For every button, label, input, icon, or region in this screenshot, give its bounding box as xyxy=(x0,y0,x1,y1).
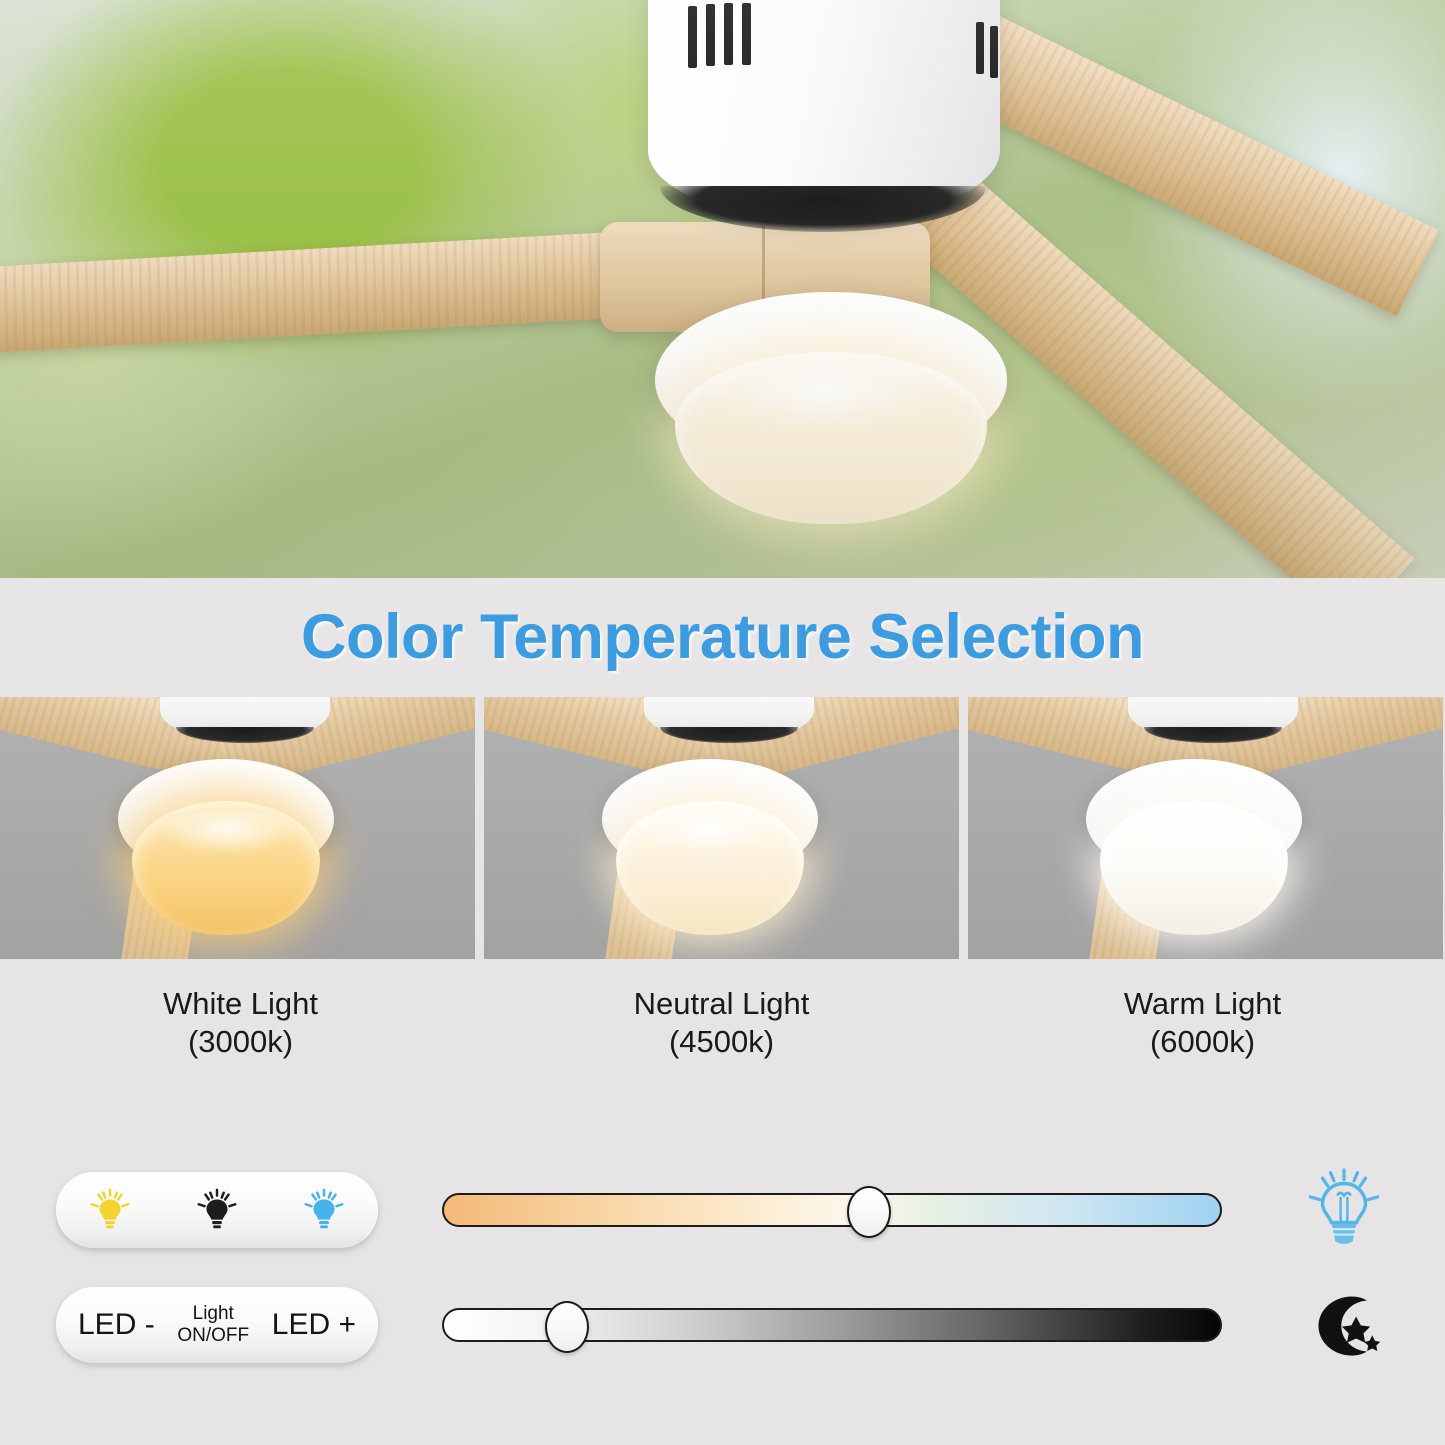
caption-name: Neutral Light xyxy=(481,985,962,1023)
title-band: Color Temperature Selection xyxy=(0,578,1445,695)
brightness-slider[interactable] xyxy=(442,1302,1222,1348)
moon-star-icon xyxy=(1301,1283,1387,1369)
bulb-icon-warm[interactable] xyxy=(87,1187,133,1233)
light-on-off-label[interactable]: Light ON/OFF xyxy=(177,1303,249,1347)
bulb-icon-cool[interactable] xyxy=(301,1187,347,1233)
light-on-off-line2: ON/OFF xyxy=(177,1325,249,1346)
panel-neutral-light xyxy=(484,697,959,959)
color-mode-button[interactable] xyxy=(56,1172,378,1248)
panel-white-light xyxy=(0,697,475,959)
light-on-off-line1: Light xyxy=(193,1303,234,1324)
caption-kelvin: (6000k) xyxy=(962,1023,1443,1061)
caption-name: White Light xyxy=(0,985,481,1023)
color-temperature-slider-thumb[interactable] xyxy=(847,1186,891,1238)
panel-light-fixture xyxy=(1086,759,1302,945)
controls-section: LED - Light ON/OFF LED + xyxy=(0,1160,1445,1410)
panel-light-fixture xyxy=(118,759,334,945)
brightness-slider-thumb[interactable] xyxy=(545,1301,589,1353)
lightbulb-icon xyxy=(1301,1166,1387,1252)
panel-fixture-highlight xyxy=(1122,811,1268,855)
led-plus-label[interactable]: LED + xyxy=(272,1308,356,1342)
led-button[interactable]: LED - Light ON/OFF LED + xyxy=(56,1287,378,1363)
hero-overlay xyxy=(0,0,1445,578)
panel-fixture-highlight xyxy=(154,811,300,855)
panel-fixture-highlight xyxy=(638,811,784,855)
control-row-brightness: LED - Light ON/OFF LED + xyxy=(0,1275,1445,1375)
color-temperature-panels xyxy=(0,697,1445,959)
bulb-icon-neutral[interactable] xyxy=(194,1187,240,1233)
panel-light-fixture xyxy=(602,759,818,945)
caption-kelvin: (3000k) xyxy=(0,1023,481,1061)
control-row-color-temperature xyxy=(0,1160,1445,1260)
caption-neutral-light: Neutral Light (4500k) xyxy=(481,985,962,1075)
caption-name: Warm Light xyxy=(962,985,1443,1023)
panel-captions: White Light (3000k) Neutral Light (4500k… xyxy=(0,985,1445,1075)
panel-warm-light xyxy=(968,697,1443,959)
caption-white-light: White Light (3000k) xyxy=(0,985,481,1075)
caption-warm-light: Warm Light (6000k) xyxy=(962,985,1443,1075)
hero-product-photo xyxy=(0,0,1445,578)
color-temperature-slider[interactable] xyxy=(442,1187,1222,1233)
led-minus-label[interactable]: LED - xyxy=(78,1308,155,1342)
caption-kelvin: (4500k) xyxy=(481,1023,962,1061)
page-title: Color Temperature Selection xyxy=(301,601,1144,673)
color-temperature-slider-track[interactable] xyxy=(442,1193,1222,1227)
